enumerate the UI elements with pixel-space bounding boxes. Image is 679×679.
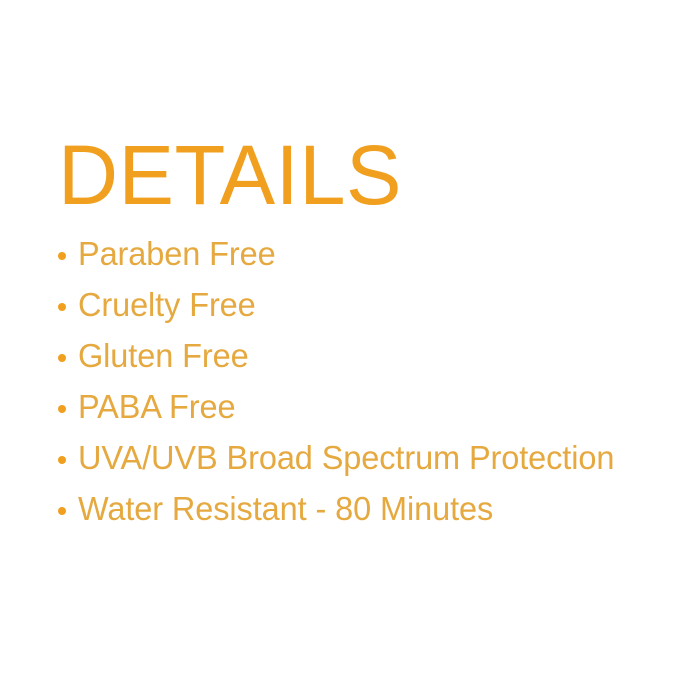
list-item-label: UVA/UVB Broad Spectrum Protection [78, 432, 614, 483]
list-item: Gluten Free [58, 330, 658, 381]
list-item: Cruelty Free [58, 279, 658, 330]
list-item: Water Resistant - 80 Minutes [58, 483, 658, 534]
list-item-label: Water Resistant - 80 Minutes [78, 483, 493, 534]
list-item-label: Gluten Free [78, 330, 249, 381]
list-item: PABA Free [58, 381, 658, 432]
product-details-panel: DETAILS Paraben Free Cruelty Free Gluten… [0, 0, 679, 679]
list-item-label: PABA Free [78, 381, 236, 432]
details-feature-list: Paraben Free Cruelty Free Gluten Free PA… [58, 228, 658, 534]
bullet-dot-icon [58, 387, 78, 438]
bullet-dot-icon [58, 438, 78, 489]
bullet-dot-icon [58, 489, 78, 540]
list-item: Paraben Free [58, 228, 658, 279]
list-item-label: Cruelty Free [78, 279, 256, 330]
bullet-dot-icon [58, 285, 78, 336]
page-title: DETAILS [58, 133, 402, 217]
bullet-dot-icon [58, 336, 78, 387]
list-item: UVA/UVB Broad Spectrum Protection [58, 432, 658, 483]
bullet-dot-icon [58, 234, 78, 285]
list-item-label: Paraben Free [78, 228, 276, 279]
